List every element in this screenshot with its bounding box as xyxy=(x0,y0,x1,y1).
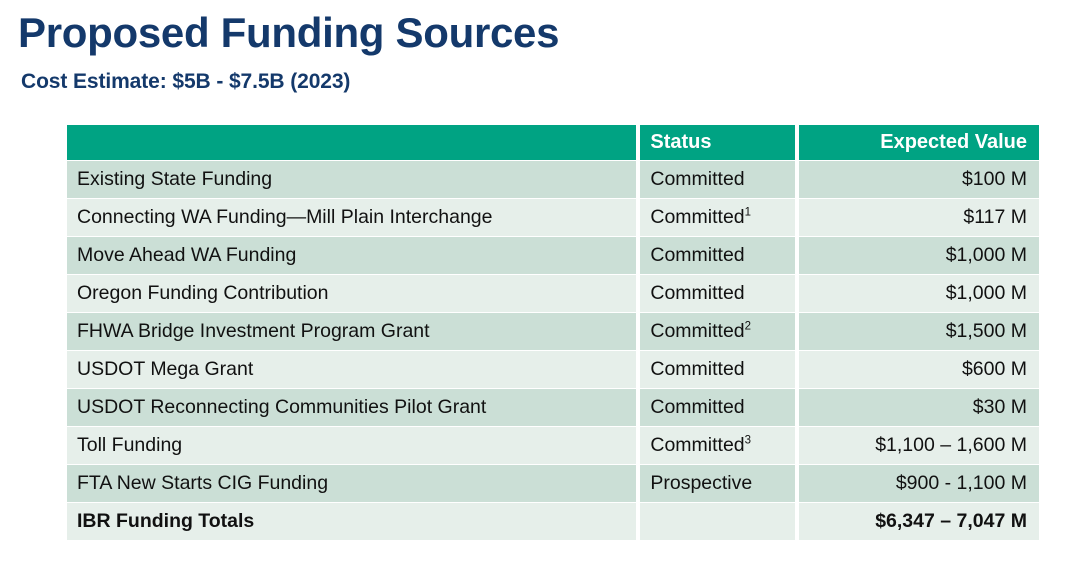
table-row-total: IBR Funding Totals$6,347 – 7,047 M xyxy=(67,503,1039,540)
cell-expected-value: $30 M xyxy=(799,389,1039,426)
table-row: Oregon Funding ContributionCommitted$1,0… xyxy=(67,275,1039,312)
status-text: Committed xyxy=(650,168,744,190)
table-row: Existing State FundingCommitted$100 M xyxy=(67,161,1039,198)
cell-status: Committed xyxy=(640,161,795,198)
table-row: USDOT Reconnecting Communities Pilot Gra… xyxy=(67,389,1039,426)
column-header-source xyxy=(67,125,636,160)
cell-status: Committed xyxy=(640,275,795,312)
table-row: Move Ahead WA FundingCommitted$1,000 M xyxy=(67,237,1039,274)
status-text: Committed xyxy=(650,434,744,456)
cell-expected-value: $117 M xyxy=(799,199,1039,236)
cell-funding-source: USDOT Mega Grant xyxy=(67,351,636,388)
status-text: Committed xyxy=(650,244,744,266)
cell-funding-source: Existing State Funding xyxy=(67,161,636,198)
cell-funding-source: FTA New Starts CIG Funding xyxy=(67,465,636,502)
table-body: Existing State FundingCommitted$100 MCon… xyxy=(67,161,1039,540)
cell-expected-value: $1,100 – 1,600 M xyxy=(799,427,1039,464)
cell-status: Committed xyxy=(640,389,795,426)
status-text: Committed xyxy=(650,396,744,418)
column-header-expected-value: Expected Value xyxy=(799,125,1039,160)
slide: Proposed Funding Sources Cost Estimate: … xyxy=(0,0,1075,566)
status-text: Committed xyxy=(650,206,744,228)
table-row: USDOT Mega GrantCommitted$600 M xyxy=(67,351,1039,388)
cell-status: Committed xyxy=(640,351,795,388)
cell-expected-value: $6,347 – 7,047 M xyxy=(799,503,1039,540)
cell-status: Committed1 xyxy=(640,199,795,236)
table-header-row: Status Expected Value xyxy=(67,125,1039,160)
cell-funding-source: Oregon Funding Contribution xyxy=(67,275,636,312)
cell-funding-source: IBR Funding Totals xyxy=(67,503,636,540)
status-text: Committed xyxy=(650,282,744,304)
column-header-status: Status xyxy=(640,125,795,160)
table-row: Connecting WA Funding—Mill Plain Interch… xyxy=(67,199,1039,236)
cell-expected-value: $900 - 1,100 M xyxy=(799,465,1039,502)
cell-expected-value: $600 M xyxy=(799,351,1039,388)
page-subtitle: Cost Estimate: $5B - $7.5B (2023) xyxy=(21,70,350,93)
cell-funding-source: Toll Funding xyxy=(67,427,636,464)
cell-funding-source: USDOT Reconnecting Communities Pilot Gra… xyxy=(67,389,636,426)
footnote-marker: 3 xyxy=(745,435,751,447)
cell-expected-value: $100 M xyxy=(799,161,1039,198)
cell-status: Committed3 xyxy=(640,427,795,464)
cell-funding-source: FHWA Bridge Investment Program Grant xyxy=(67,313,636,350)
funding-sources-table: Status Expected Value Existing State Fun… xyxy=(63,124,1043,541)
cell-expected-value: $1,500 M xyxy=(799,313,1039,350)
cell-funding-source: Move Ahead WA Funding xyxy=(67,237,636,274)
table-row: FHWA Bridge Investment Program GrantComm… xyxy=(67,313,1039,350)
cell-status: Prospective xyxy=(640,465,795,502)
status-text: Committed xyxy=(650,320,744,342)
cell-expected-value: $1,000 M xyxy=(799,237,1039,274)
cell-expected-value: $1,000 M xyxy=(799,275,1039,312)
table-header: Status Expected Value xyxy=(67,125,1039,160)
cell-status: Committed xyxy=(640,237,795,274)
cell-status: Committed2 xyxy=(640,313,795,350)
footnote-marker: 1 xyxy=(745,207,751,219)
table-row: FTA New Starts CIG FundingProspective$90… xyxy=(67,465,1039,502)
footnote-marker: 2 xyxy=(745,321,751,333)
page-title: Proposed Funding Sources xyxy=(18,10,559,56)
cell-funding-source: Connecting WA Funding—Mill Plain Interch… xyxy=(67,199,636,236)
status-text: Prospective xyxy=(650,472,752,494)
cell-status xyxy=(640,503,795,540)
table-row: Toll FundingCommitted3$1,100 – 1,600 M xyxy=(67,427,1039,464)
status-text: Committed xyxy=(650,358,744,380)
